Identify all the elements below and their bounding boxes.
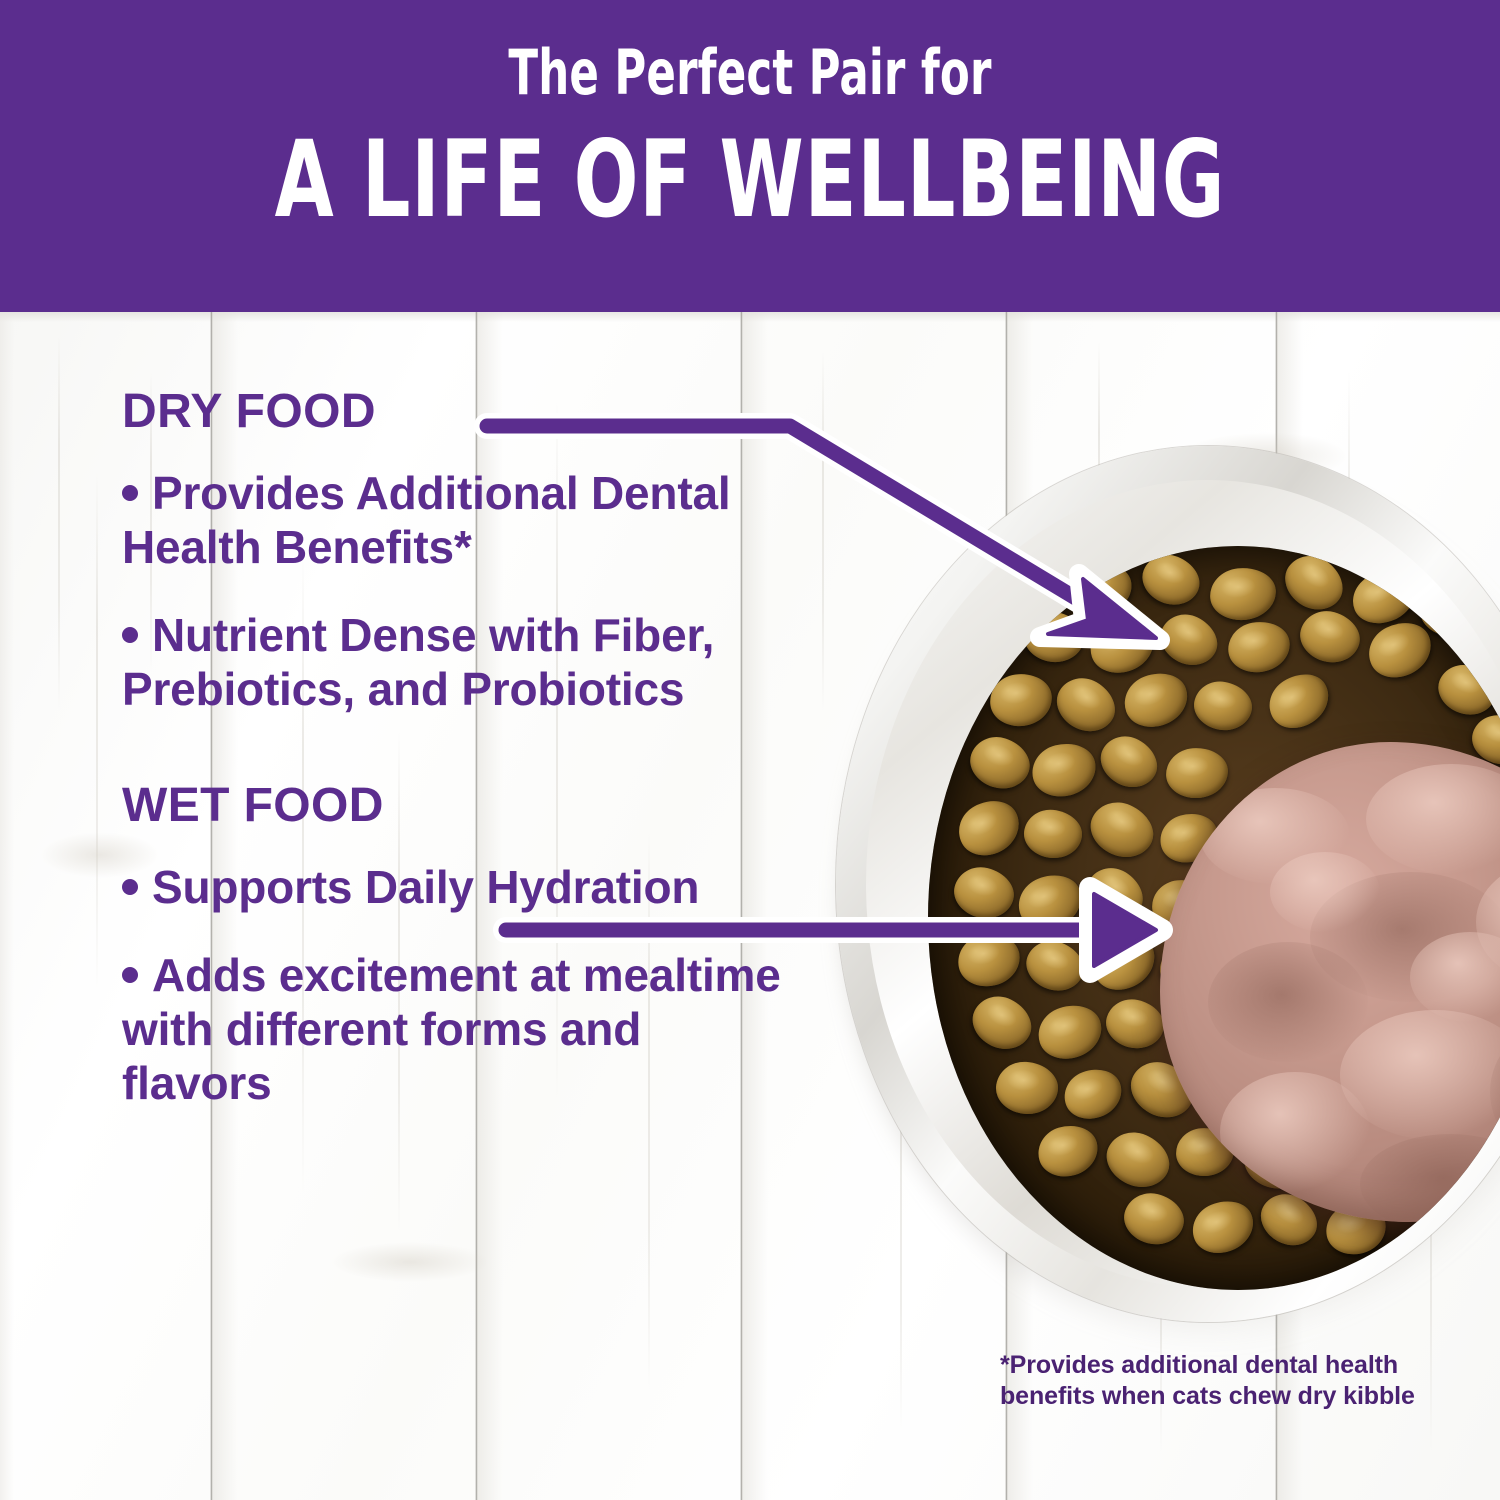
promo-infographic: The Perfect Pair for A LIFE OF WELLBEING xyxy=(0,0,1500,1500)
page-title: A LIFE OF WELLBEING xyxy=(150,124,1350,236)
bowl-outer-rim xyxy=(836,446,1500,1322)
list-item: Provides Additional Dental Health Benefi… xyxy=(122,466,782,574)
wood-grain xyxy=(58,332,60,712)
dry-food-bullet-1: Provides Additional Dental Health Benefi… xyxy=(122,467,730,573)
benefits-copy-column: DRY FOOD Provides Additional Dental Heal… xyxy=(122,386,782,1144)
bowl-inner-rim xyxy=(866,480,1500,1288)
wet-food-bullet-2: Adds excitement at mealtime with differe… xyxy=(122,949,781,1109)
footnote-disclaimer: *Provides additional dental health benef… xyxy=(1000,1350,1430,1412)
wood-grain xyxy=(822,352,824,712)
bullet-dot-icon xyxy=(122,485,138,501)
header-kicker: The Perfect Pair for xyxy=(165,40,1335,106)
header-text-block: The Perfect Pair for A LIFE OF WELLBEING xyxy=(0,40,1500,236)
wet-food-bullet-1: Supports Daily Hydration xyxy=(152,861,699,913)
section-spacer xyxy=(122,750,782,780)
dry-food-heading: DRY FOOD xyxy=(122,386,782,438)
bowl-interior xyxy=(928,546,1500,1290)
wet-food-heading: WET FOOD xyxy=(122,780,782,832)
bullet-dot-icon xyxy=(122,879,138,895)
bullet-dot-icon xyxy=(122,967,138,983)
dry-food-bullet-2: Nutrient Dense with Fiber, Prebiotics, a… xyxy=(122,609,714,715)
pet-bowl-photo xyxy=(836,446,1500,1356)
list-item: Adds excitement at mealtime with differe… xyxy=(122,948,782,1110)
list-item: Nutrient Dense with Fiber, Prebiotics, a… xyxy=(122,608,782,716)
wood-scuff xyxy=(330,1242,490,1282)
list-item: Supports Daily Hydration xyxy=(122,860,782,914)
header-banner: The Perfect Pair for A LIFE OF WELLBEING xyxy=(0,0,1500,312)
bullet-dot-icon xyxy=(122,627,138,643)
wood-grain xyxy=(96,472,98,992)
